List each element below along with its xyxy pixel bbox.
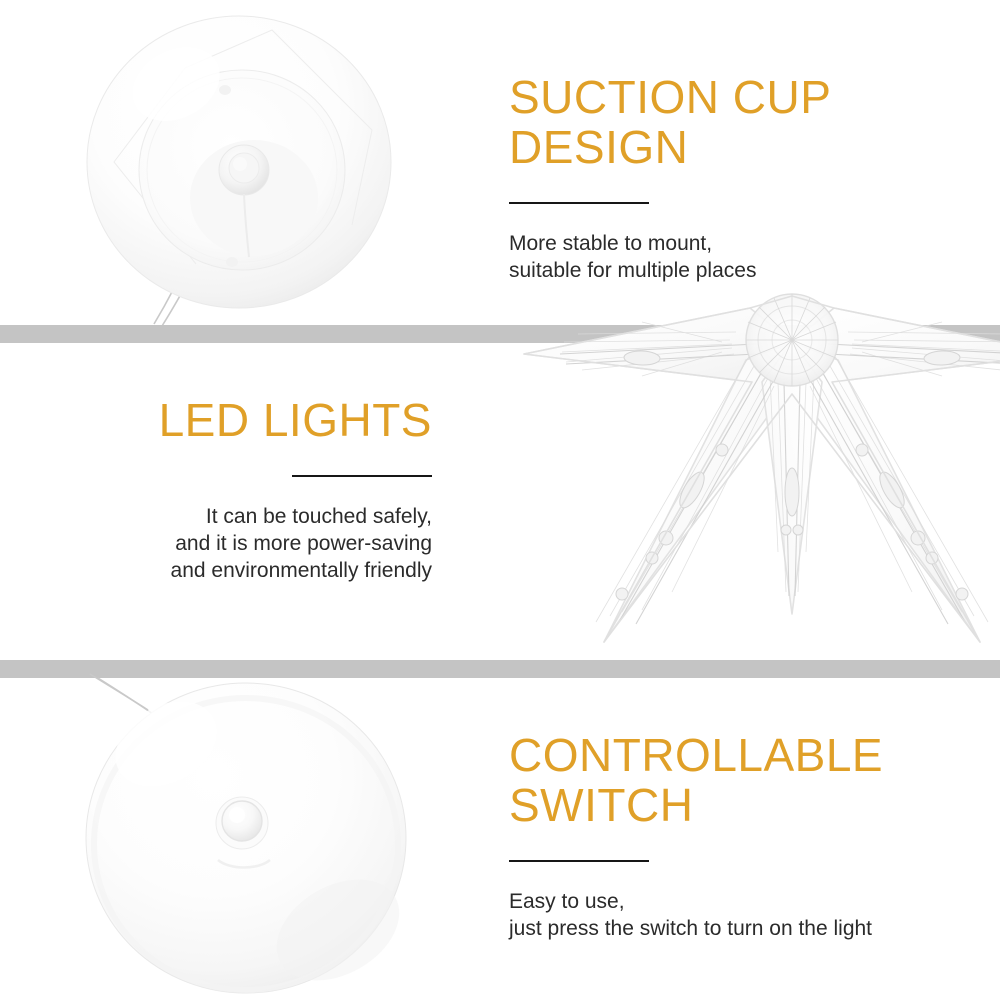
infographic-page: SUCTION CUP DESIGN More stable to mount,… (0, 0, 1000, 1000)
section-2-text: LED LIGHTS It can be touched safely, and… (10, 395, 432, 584)
section-1-body: More stable to mount, suitable for multi… (509, 230, 979, 284)
section-3-text: CONTROLLABLE SWITCH Easy to use, just pr… (509, 730, 989, 942)
section-1-heading: SUCTION CUP DESIGN (509, 72, 979, 172)
push-switch-light-image (70, 668, 420, 998)
star-body (524, 294, 1000, 642)
section-2-body: It can be touched safely, and it is more… (10, 503, 432, 584)
clear-star-ornament-image (512, 332, 1000, 662)
section-3-heading: CONTROLLABLE SWITCH (509, 730, 989, 830)
power-wires (90, 674, 156, 716)
section-2-heading: LED LIGHTS (10, 395, 432, 445)
section-2-rule (292, 475, 432, 477)
section-1-text: SUCTION CUP DESIGN More stable to mount,… (509, 72, 979, 284)
section-1-rule (509, 202, 649, 204)
section-3-rule (509, 860, 649, 862)
suction-cup-light-image (84, 12, 394, 312)
section-3-body: Easy to use, just press the switch to tu… (509, 888, 989, 942)
hub-striations (746, 294, 838, 386)
